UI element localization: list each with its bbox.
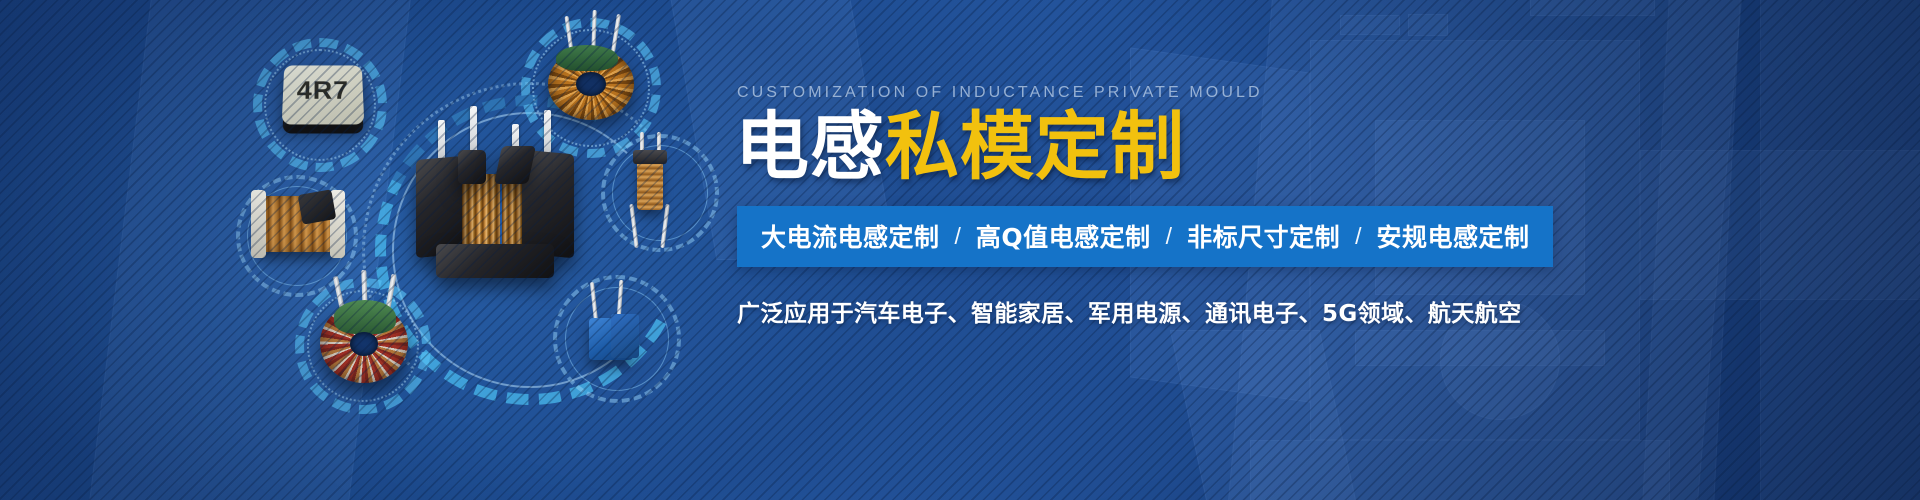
drum-core-bracket	[298, 189, 337, 224]
service-tag-0[interactable]: 大电流电感定制	[761, 218, 940, 254]
tag-separator-1: /	[1151, 223, 1187, 250]
service-tag-bar: 大电流电感定制 / 高Q值电感定制 / 非标尺寸定制 / 安规电感定制	[737, 206, 1553, 267]
blue-bobbin-inductor-side	[611, 314, 639, 358]
common-mode-choke-hole	[350, 332, 378, 356]
headline-gold-part: 私模定制	[885, 104, 1185, 190]
service-tag-3[interactable]: 安规电感定制	[1376, 218, 1529, 254]
banner-english-subtitle: CUSTOMIZATION OF INDUCTANCE PRIVATE MOUL…	[737, 84, 1747, 102]
common-mode-choke-core	[334, 300, 396, 334]
banner-text-content: CUSTOMIZATION OF INDUCTANCE PRIVATE MOUL…	[737, 84, 1747, 328]
rod-inductor-winding	[637, 158, 663, 210]
toroidal-choke-core	[556, 45, 618, 71]
page-title: 电感私模定制	[735, 109, 1747, 185]
hero-choke-base	[436, 244, 554, 278]
hero-choke-core-top-a	[458, 150, 486, 184]
tag-separator-0: /	[940, 223, 976, 250]
inductance-custom-mould-banner: 4R7	[0, 0, 1920, 500]
tag-separator-2: /	[1340, 223, 1376, 250]
drum-core-flange-left	[251, 190, 266, 258]
service-tag-2[interactable]: 非标尺寸定制	[1187, 218, 1340, 254]
headline-white-part: 电感	[735, 104, 885, 190]
service-tag-1[interactable]: 高Q值电感定制	[976, 218, 1151, 254]
smd-inductor-value-label: 4R7	[282, 76, 363, 105]
rod-inductor-cap	[633, 150, 667, 164]
hero-ee-core-choke	[414, 112, 578, 272]
hero-choke-core-left	[416, 156, 462, 258]
application-description: 广泛应用于汽车电子、智能家居、军用电源、通讯电子、5G领域、航天航空	[737, 294, 1747, 328]
toroidal-choke-hole	[576, 72, 606, 96]
smd-power-inductor: 4R7	[282, 65, 365, 124]
